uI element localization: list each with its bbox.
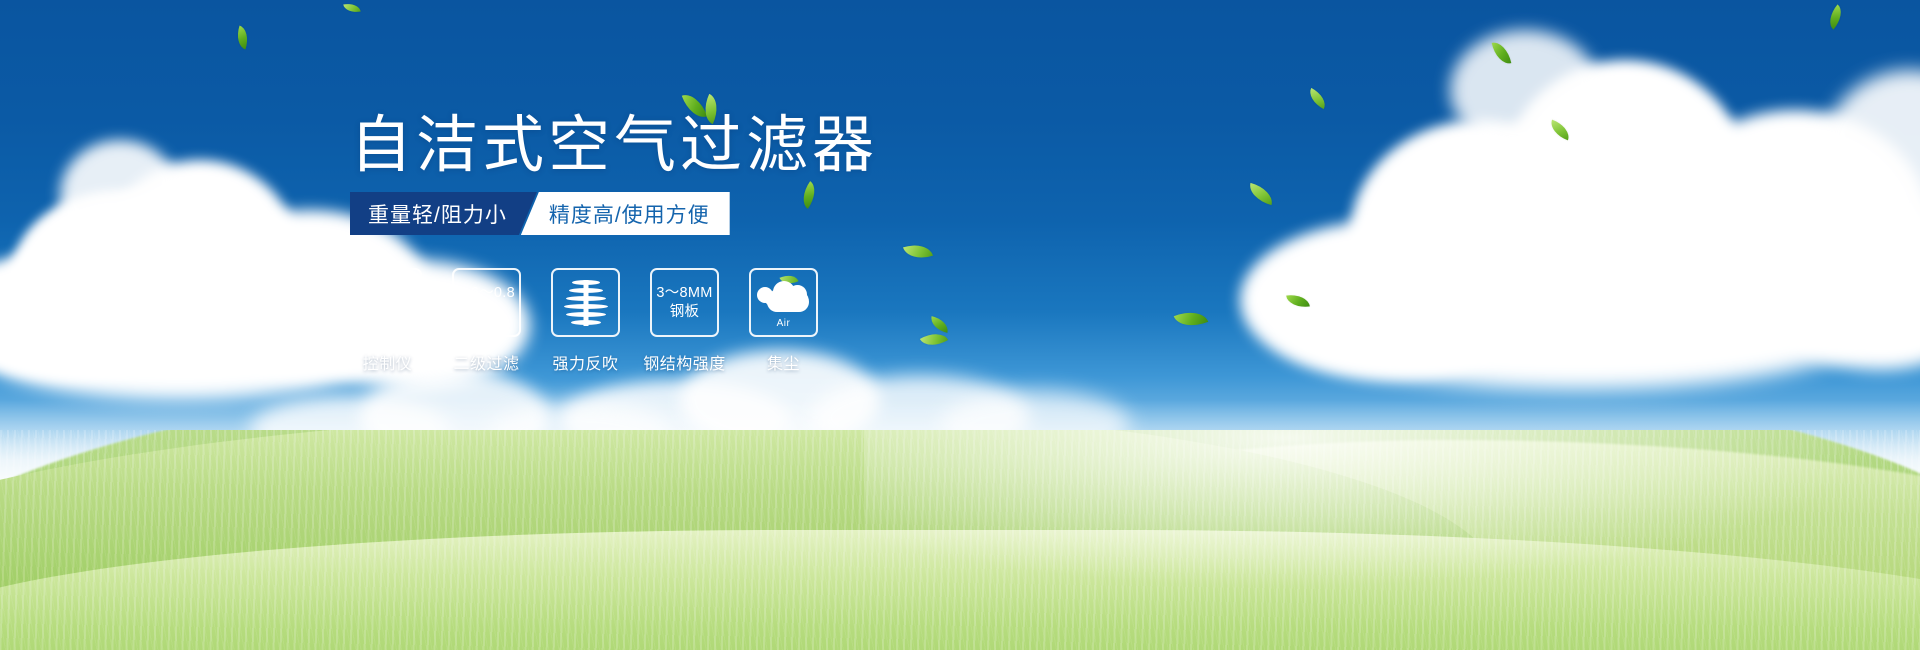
feature-icon-box <box>551 268 620 337</box>
air-label: Air <box>757 318 811 329</box>
tagline-primary: 重量轻/阻力小 <box>350 192 537 235</box>
tagline-secondary: 精度高/使用方便 <box>521 192 730 235</box>
gauge-icon: NO OFF <box>361 278 415 328</box>
banner-content: 自洁式空气过滤器 重量轻/阻力小 精度高/使用方便 NO OFF <box>0 0 1920 650</box>
pressure-text-icon: 0.6～0.8 MPA <box>458 284 515 320</box>
coil-filter-icon <box>563 278 609 328</box>
feature-label: 控制仪 <box>363 350 413 374</box>
feature-item[interactable]: NO OFF <box>352 268 423 374</box>
steel-material: 钢板 <box>656 303 712 321</box>
feature-label: 二级过滤 <box>453 350 519 374</box>
feature-icon-box: Air <box>749 268 818 337</box>
product-banner: 自洁式空气过滤器 重量轻/阻力小 精度高/使用方便 NO OFF <box>0 0 1920 650</box>
feature-label: 集尘 <box>767 350 800 374</box>
air-cloud-icon: Air <box>757 280 811 326</box>
feature-label: 强力反吹 <box>552 350 618 374</box>
pressure-unit: MPA <box>458 303 515 321</box>
feature-icon-box: 0.6～0.8 MPA <box>452 268 521 337</box>
steel-thickness: 3～8MM <box>656 284 712 302</box>
banner-title: 自洁式空气过滤器 <box>350 115 878 177</box>
feature-list: NO OFF <box>352 268 819 374</box>
feature-icon-box: NO OFF <box>353 268 422 337</box>
feature-item[interactable]: 强力反吹 <box>550 268 621 374</box>
pressure-range: 0.6～0.8 <box>458 284 515 302</box>
feature-item[interactable]: 3～8MM 钢板 钢结构强度 <box>649 268 720 374</box>
feature-item[interactable]: 0.6～0.8 MPA 二级过滤 <box>451 268 522 374</box>
steel-plate-text-icon: 3～8MM 钢板 <box>656 284 712 320</box>
feature-icon-box: 3～8MM 钢板 <box>650 268 719 337</box>
feature-item[interactable]: Air 集尘 <box>748 268 819 374</box>
tagline-group: 重量轻/阻力小 精度高/使用方便 <box>350 192 730 235</box>
feature-label: 钢结构强度 <box>643 350 726 374</box>
